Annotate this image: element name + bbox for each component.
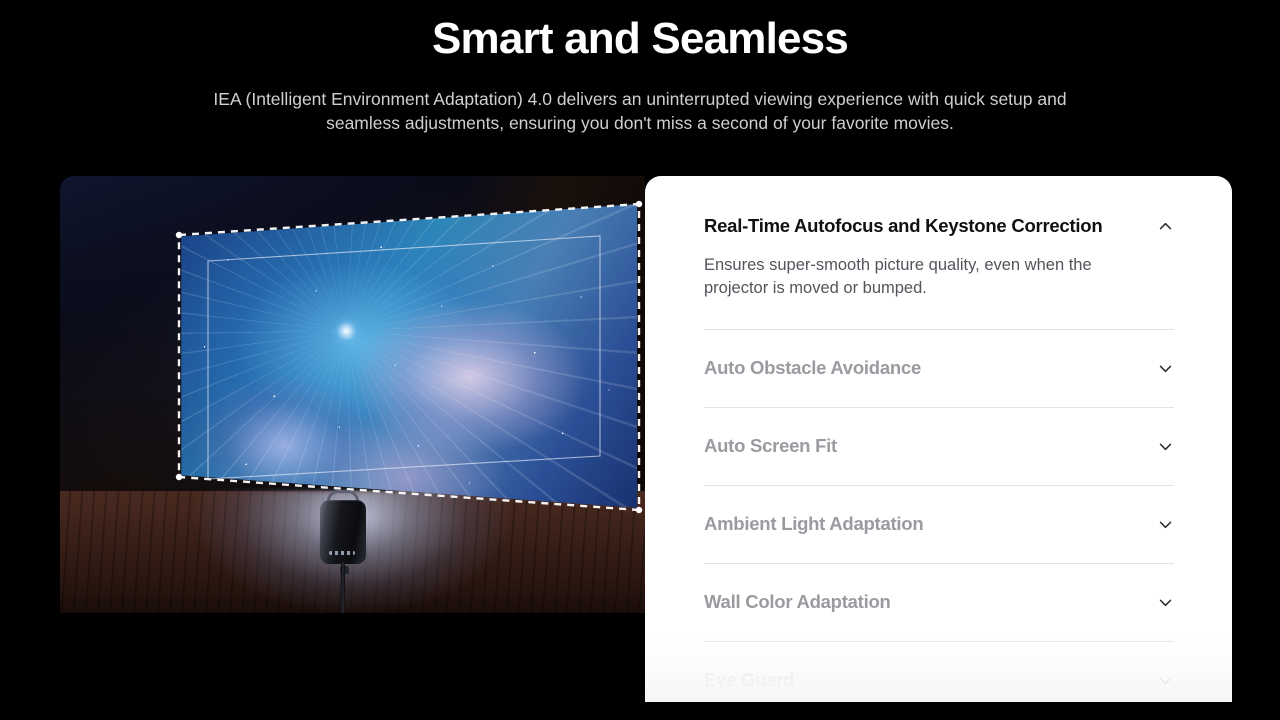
accordion-item-ambient-light-adaptation[interactable]: Ambient Light Adaptation [704,486,1174,563]
accordion-item-label: Real-Time Autofocus and Keystone Correct… [704,215,1102,237]
accordion-item-label: Ambient Light Adaptation [704,513,923,535]
accordion-header[interactable]: Wall Color Adaptation [704,564,1174,641]
accordion-list: Real-Time Autofocus and Keystone Correct… [645,176,1232,702]
accordion-item-eye-guard[interactable]: Eye Guard [704,642,1174,702]
chevron-down-icon[interactable] [1157,360,1174,377]
chevron-down-icon[interactable] [1157,438,1174,455]
accordion-header[interactable]: Real-Time Autofocus and Keystone Correct… [704,209,1174,237]
stars-overlay [172,204,637,514]
accordion-item-auto-obstacle-avoidance[interactable]: Auto Obstacle Avoidance [704,330,1174,407]
chevron-down-icon[interactable] [1157,516,1174,533]
product-scene-image [60,176,645,613]
tripod-pole [341,562,345,613]
page-title: Smart and Seamless [0,12,1280,66]
accordion-item-wall-color-adaptation[interactable]: Wall Color Adaptation [704,564,1174,641]
accordion-item-auto-screen-fit[interactable]: Auto Screen Fit [704,408,1174,485]
projector-body [320,500,366,564]
accordion-item-label: Auto Screen Fit [704,435,837,457]
chevron-down-icon[interactable] [1157,594,1174,611]
page-subtitle: IEA (Intelligent Environment Adaptation)… [180,88,1100,135]
page-root: Smart and Seamless IEA (Intelligent Envi… [0,0,1280,720]
accordion-header[interactable]: Auto Obstacle Avoidance [704,330,1174,407]
accordion-item-label: Wall Color Adaptation [704,591,891,613]
accordion-header[interactable]: Ambient Light Adaptation [704,486,1174,563]
accordion-header[interactable]: Eye Guard [704,642,1174,702]
accordion-item-label: Eye Guard [704,669,794,691]
projector-vent [329,551,355,555]
accordion-item-real-time-autofocus[interactable]: Real-Time Autofocus and Keystone Correct… [704,209,1174,329]
accordion-header[interactable]: Auto Screen Fit [704,408,1174,485]
accordion-item-label: Auto Obstacle Avoidance [704,357,921,379]
chevron-up-icon[interactable] [1157,218,1174,235]
projector-icon [320,490,366,564]
accordion-item-body: Ensures super-smooth picture quality, ev… [704,254,1156,329]
feature-accordion-panel: Real-Time Autofocus and Keystone Correct… [645,176,1232,702]
projected-image [172,204,637,514]
chevron-down-icon[interactable] [1157,672,1174,689]
